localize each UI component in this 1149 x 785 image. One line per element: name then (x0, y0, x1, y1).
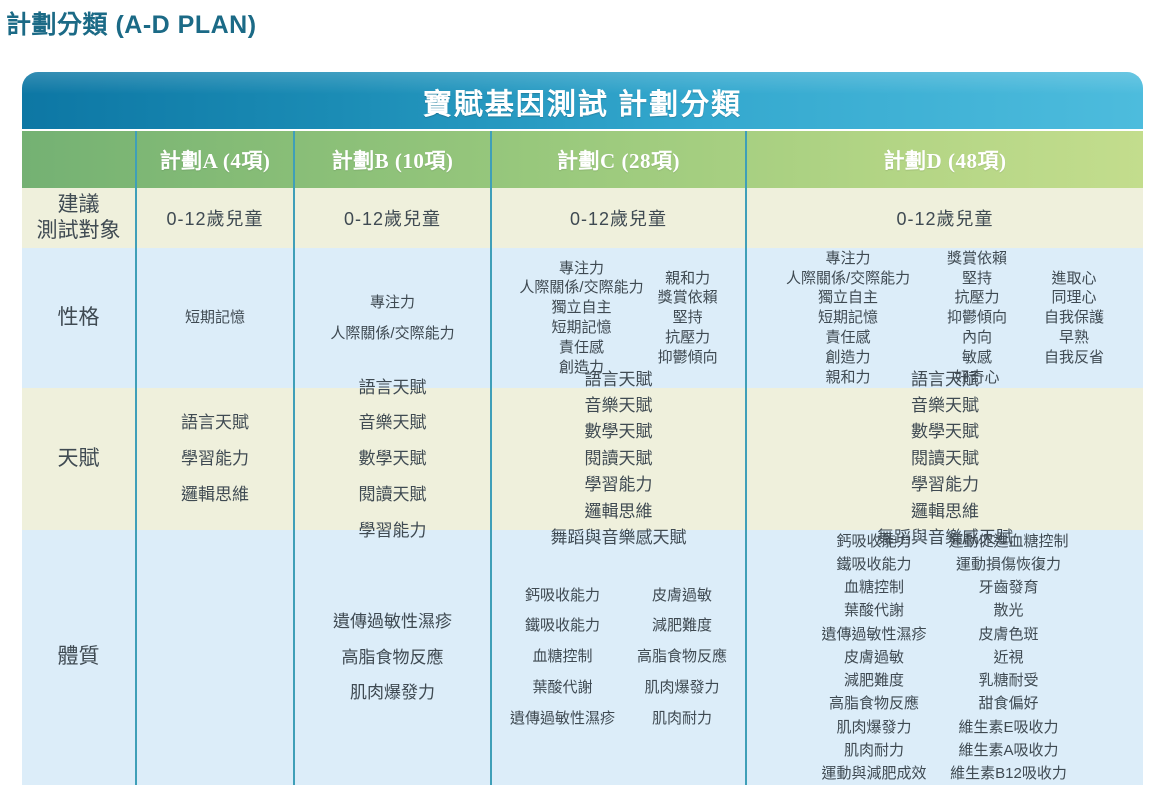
list-item: 鐵吸收能力 (836, 553, 911, 576)
list-item: 責任感 (826, 328, 871, 348)
item-list: 語言天賦音樂天賦數學天賦閱讀天賦學習能力邏輯思維舞蹈與音樂感天賦 (749, 367, 1141, 551)
cell-talent-plan-a: 語言天賦學習能力邏輯思維 (135, 388, 293, 530)
list-item: 肌肉爆發力 (350, 675, 435, 711)
list-item: 人際關係/交際能力 (786, 269, 910, 289)
list-item: 遺傳過敏性濕疹 (333, 604, 452, 640)
item-list: 鈣吸收能力鐵吸收能力血糖控制葉酸代謝遺傳過敏性濕疹皮膚過敏減肥難度高脂食物反應肌… (821, 530, 926, 785)
list-item: 堅持 (962, 269, 992, 289)
list-item: 獎賞依賴 (658, 288, 718, 308)
cell-constitution-plan-c: 鈣吸收能力鐵吸收能力血糖控制葉酸代謝遺傳過敏性濕疹 皮膚過敏減肥難度高脂食物反應… (490, 530, 745, 785)
cell-personality-plan-a: 短期記憶 (135, 248, 293, 388)
list-item: 肌肉耐力 (652, 704, 712, 735)
list-item: 短期記憶 (185, 308, 245, 328)
list-item: 音樂天賦 (911, 393, 979, 419)
list-item: 專注力 (370, 287, 415, 319)
table-title: 寶賦基因測試 計劃分類 (22, 81, 1143, 123)
cell-talent-plan-c: 語言天賦音樂天賦數學天賦閱讀天賦學習能力邏輯思維舞蹈與音樂感天賦 (490, 388, 745, 530)
list-item: 邏輯思維 (181, 477, 249, 513)
list-item: 內向 (962, 328, 992, 348)
list-item: 邏輯思維 (585, 499, 653, 525)
list-item: 短期記憶 (551, 318, 611, 338)
list-item: 葉酸代謝 (844, 599, 904, 622)
list-item: 牙齒發育 (979, 576, 1039, 599)
plan-header-row: 計劃A (4項) 計劃B (10項) 計劃C (28項) 計劃D (48項) (22, 129, 1143, 188)
list-item: 數學天賦 (359, 441, 427, 477)
list-item: 獨立自主 (818, 288, 878, 308)
list-item: 短期記憶 (818, 308, 878, 328)
item-list: 遺傳過敏性濕疹高脂食物反應肌肉爆發力 (297, 604, 488, 711)
row-label-text: 天賦 (58, 446, 100, 472)
list-item: 運動與減肥成效 (821, 762, 926, 785)
list-item: 血糖控制 (532, 642, 592, 673)
cell-talent-plan-b: 語言天賦音樂天賦數學天賦閱讀天賦學習能力 (293, 388, 490, 530)
list-item: 敏感 (962, 348, 992, 368)
list-item: 抑鬱傾向 (947, 308, 1007, 328)
list-item: 獎賞依賴 (947, 249, 1007, 269)
split-columns: 鈣吸收能力鐵吸收能力血糖控制葉酸代謝遺傳過敏性濕疹皮膚過敏減肥難度高脂食物反應肌… (749, 530, 1141, 785)
list-item: 獨立自主 (551, 298, 611, 318)
item-list: 專注力人際關係/交際能力 (297, 287, 488, 350)
column-header-label (22, 131, 135, 188)
row-label-text: 體質 (58, 644, 100, 670)
column-header-plan-a[interactable]: 計劃A (4項) (135, 131, 293, 188)
list-item: 遺傳過敏性濕疹 (821, 623, 926, 646)
list-item: 皮膚過敏 (652, 581, 712, 612)
list-item: 閱讀天賦 (585, 446, 653, 472)
column-header-plan-c[interactable]: 計劃C (28項) (490, 131, 745, 188)
item-list: 鈣吸收能力鐵吸收能力血糖控制葉酸代謝遺傳過敏性濕疹 (510, 581, 615, 735)
cell-audience-plan-a: 0-12歲兒童 (135, 188, 293, 248)
audience-value: 0-12歲兒童 (344, 205, 441, 231)
list-item: 血糖控制 (844, 576, 904, 599)
item-list: 語言天賦音樂天賦數學天賦閱讀天賦學習能力邏輯思維舞蹈與音樂感天賦 (494, 367, 743, 551)
list-item: 閱讀天賦 (359, 477, 427, 513)
cell-personality-plan-b: 專注力人際關係/交際能力 (293, 248, 490, 388)
list-item: 自我反省 (1044, 348, 1104, 368)
list-item: 創造力 (826, 348, 871, 368)
item-list: 專注力人際關係/交際能力獨立自主短期記憶責任感創造力 (519, 259, 643, 378)
cell-audience-plan-d: 0-12歲兒童 (745, 188, 1143, 248)
list-item: 抗壓力 (665, 328, 710, 348)
list-item: 甜食偏好 (979, 692, 1039, 715)
row-label-text: 性格 (58, 305, 100, 331)
item-list: 運動促進血糖控制運動損傷恢復力牙齒發育散光皮膚色斑近視乳糖耐受甜食偏好維生素E吸… (949, 530, 1069, 785)
list-item: 學習能力 (181, 441, 249, 477)
list-item: 閱讀天賦 (911, 446, 979, 472)
row-label-constitution: 體質 (22, 530, 135, 785)
audience-value: 0-12歲兒童 (166, 205, 263, 231)
list-item: 人際關係/交際能力 (330, 318, 454, 350)
list-item: 進取心 (1052, 269, 1097, 289)
column-header-plan-b[interactable]: 計劃B (10項) (293, 131, 490, 188)
list-item: 同理心 (1052, 288, 1097, 308)
cell-constitution-plan-d: 鈣吸收能力鐵吸收能力血糖控制葉酸代謝遺傳過敏性濕疹皮膚過敏減肥難度高脂食物反應肌… (745, 530, 1143, 785)
list-item: 專注力 (559, 259, 604, 279)
cell-talent-plan-d: 語言天賦音樂天賦數學天賦閱讀天賦學習能力邏輯思維舞蹈與音樂感天賦 (745, 388, 1143, 530)
list-item: 責任感 (559, 338, 604, 358)
row-label-personality: 性格 (22, 248, 135, 388)
list-item: 人際關係/交際能力 (519, 278, 643, 298)
list-item: 親和力 (665, 269, 710, 289)
item-list: 進取心同理心自我保護早熟自我反省 (1044, 269, 1104, 368)
list-item: 邏輯思維 (911, 499, 979, 525)
list-item: 鈣吸收能力 (525, 581, 600, 612)
list-item: 學習能力 (911, 472, 979, 498)
list-item: 數學天賦 (585, 419, 653, 445)
column-header-plan-d[interactable]: 計劃D (48項) (745, 131, 1143, 188)
page-title: 計劃分類 (A-D PLAN) (6, 5, 257, 41)
list-item: 肌肉爆發力 (645, 673, 720, 704)
cell-constitution-plan-b: 遺傳過敏性濕疹高脂食物反應肌肉爆發力 (293, 530, 490, 785)
item-list: 語言天賦學習能力邏輯思維 (139, 405, 291, 512)
row-label-text: 建議 測試對象 (37, 192, 121, 245)
list-item: 遺傳過敏性濕疹 (510, 704, 615, 735)
list-item: 語言天賦 (359, 370, 427, 406)
list-item: 語言天賦 (911, 367, 979, 393)
row-label-audience: 建議 測試對象 (22, 188, 135, 248)
list-item: 早熟 (1059, 328, 1089, 348)
list-item: 維生素B12吸收力 (950, 762, 1067, 785)
table-row-audience: 建議 測試對象 0-12歲兒童 0-12歲兒童 0-12歲兒童 0-12歲兒童 (22, 188, 1143, 248)
list-item: 皮膚色斑 (979, 623, 1039, 646)
list-item: 高脂食物反應 (342, 640, 444, 676)
list-item: 語言天賦 (585, 367, 653, 393)
list-item: 鈣吸收能力 (836, 530, 911, 553)
audience-value: 0-12歲兒童 (570, 205, 667, 231)
table-title-bar: 寶賦基因測試 計劃分類 (22, 72, 1143, 129)
item-list: 短期記憶 (139, 308, 291, 328)
audience-value: 0-12歲兒童 (896, 205, 993, 231)
list-item: 減肥難度 (844, 669, 904, 692)
list-item: 減肥難度 (652, 611, 712, 642)
list-item: 音樂天賦 (359, 405, 427, 441)
table-row-talent: 天賦 語言天賦學習能力邏輯思維 語言天賦音樂天賦數學天賦閱讀天賦學習能力 語言天… (22, 388, 1143, 530)
list-item: 葉酸代謝 (532, 673, 592, 704)
list-item: 鐵吸收能力 (525, 611, 600, 642)
list-item: 專注力 (826, 249, 871, 269)
list-item: 抗壓力 (955, 288, 1000, 308)
list-item: 音樂天賦 (585, 393, 653, 419)
item-list: 親和力獎賞依賴堅持抗壓力抑鬱傾向 (658, 269, 718, 368)
list-item: 自我保護 (1044, 308, 1104, 328)
item-list: 皮膚過敏減肥難度高脂食物反應肌肉爆發力肌肉耐力 (637, 581, 727, 735)
list-item: 堅持 (673, 308, 703, 328)
list-item: 語言天賦 (181, 405, 249, 441)
cell-audience-plan-c: 0-12歲兒童 (490, 188, 745, 248)
cell-audience-plan-b: 0-12歲兒童 (293, 188, 490, 248)
row-label-talent: 天賦 (22, 388, 135, 530)
list-item: 肌肉爆發力 (836, 716, 911, 739)
list-item: 散光 (994, 599, 1024, 622)
list-item: 運動促進血糖控制 (949, 530, 1069, 553)
split-columns: 專注力人際關係/交際能力獨立自主短期記憶責任感創造力 親和力獎賞依賴堅持抗壓力抑… (494, 259, 743, 378)
list-item: 高脂食物反應 (829, 692, 919, 715)
list-item: 抑鬱傾向 (658, 348, 718, 368)
cell-constitution-plan-a (135, 530, 293, 785)
list-item: 數學天賦 (911, 419, 979, 445)
list-item: 運動損傷恢復力 (956, 553, 1061, 576)
item-list: 語言天賦音樂天賦數學天賦閱讀天賦學習能力 (297, 370, 488, 548)
list-item: 皮膚過敏 (844, 646, 904, 669)
list-item: 學習能力 (585, 472, 653, 498)
list-item: 維生素E吸收力 (959, 716, 1059, 739)
list-item: 近視 (994, 646, 1024, 669)
table-row-constitution: 體質 遺傳過敏性濕疹高脂食物反應肌肉爆發力 鈣吸收能力鐵吸收能力血糖控制葉酸代謝… (22, 530, 1143, 785)
list-item: 維生素A吸收力 (959, 739, 1059, 762)
list-item: 肌肉耐力 (844, 739, 904, 762)
list-item: 乳糖耐受 (979, 669, 1039, 692)
plan-comparison-table: 寶賦基因測試 計劃分類 計劃A (4項) 計劃B (10項) 計劃C (28項)… (22, 72, 1143, 783)
list-item: 高脂食物反應 (637, 642, 727, 673)
split-columns: 鈣吸收能力鐵吸收能力血糖控制葉酸代謝遺傳過敏性濕疹 皮膚過敏減肥難度高脂食物反應… (494, 581, 743, 735)
